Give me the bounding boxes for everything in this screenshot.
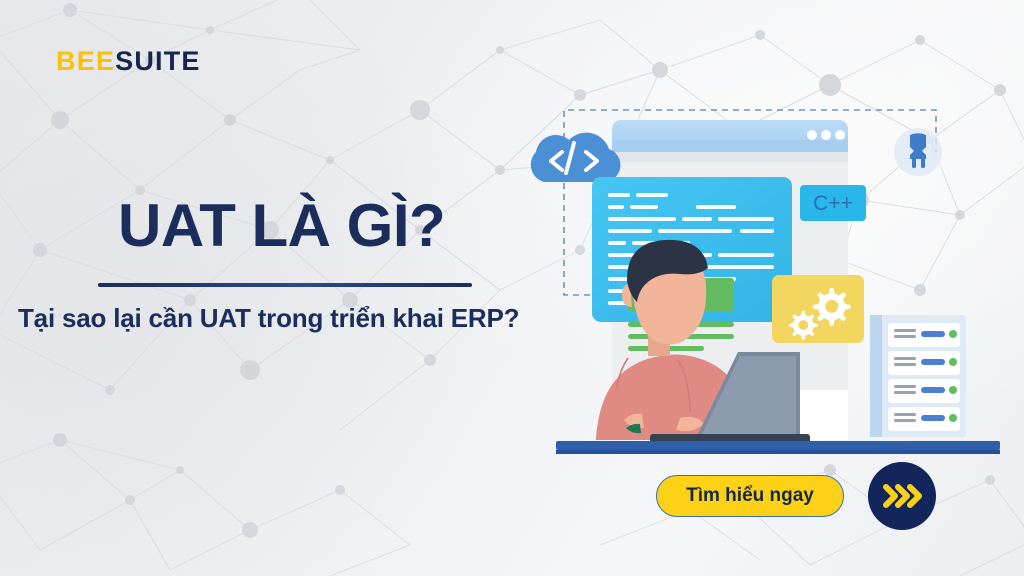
hero-illustration: C++	[500, 90, 1000, 460]
cta-arrow-button[interactable]	[868, 462, 936, 530]
desk-edge	[556, 450, 1000, 454]
cloud-code-icon	[531, 133, 621, 182]
wrench-icon	[894, 128, 942, 176]
poster-canvas: BEESUITE UAT LÀ GÌ? Tại sao lại cần UAT …	[0, 0, 1024, 576]
brand-logo: BEESUITE	[56, 46, 201, 77]
language-badge: C++	[800, 185, 866, 221]
gear-card	[772, 275, 864, 343]
page-title: UAT LÀ GÌ?	[118, 196, 445, 256]
language-badge-label: C++	[813, 192, 853, 215]
cta-button-label: Tìm hiểu ngay	[686, 485, 814, 507]
brand-logo-suite: SUITE	[115, 46, 201, 76]
cta-button[interactable]: Tìm hiểu ngay	[656, 475, 844, 517]
desk-surface	[556, 441, 1000, 450]
page-subtitle: Tại sao lại cần UAT trong triển khai ERP…	[18, 303, 519, 334]
browser-dots	[807, 130, 845, 140]
double-chevron-right-icon	[880, 481, 924, 511]
title-divider	[98, 283, 472, 287]
server-rack	[870, 315, 966, 437]
brand-logo-bee: BEE	[56, 46, 115, 76]
